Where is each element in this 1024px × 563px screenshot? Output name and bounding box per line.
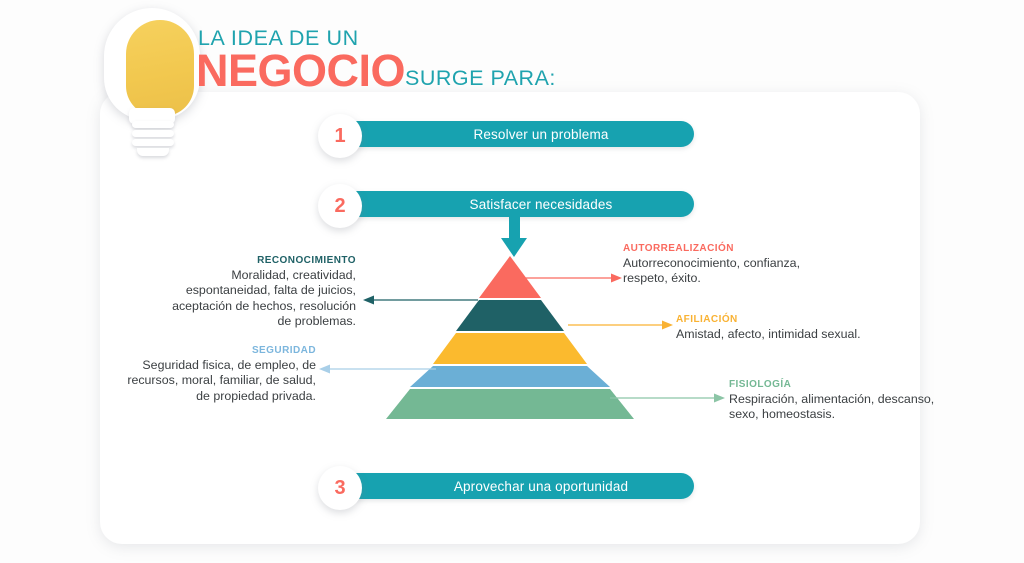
label-autorrealizacion: AUTORREALIZACIÓN Autorreconocimiento, co… (623, 243, 838, 287)
label-seguridad: SEGURIDAD Seguridad fisica, de empleo, d… (118, 345, 316, 404)
step-label-3: Aprovechar una oportunidad (420, 479, 628, 494)
title-emphasis: NEGOCIO (196, 48, 405, 93)
step-bar-3[interactable]: Aprovechar una oportunidad (354, 473, 694, 499)
label-title-reconocimiento: RECONOCIMIENTO (164, 255, 356, 266)
label-title-fisiologia: FISIOLOGÍA (729, 379, 944, 390)
connector-autorrealizacion (507, 272, 625, 284)
label-title-seguridad: SEGURIDAD (118, 345, 316, 356)
label-body-fisiologia: Respiración, alimentación, descanso, sex… (729, 392, 944, 423)
label-title-autorrealizacion: AUTORREALIZACIÓN (623, 243, 838, 254)
pyramid-tier-seguridad (410, 366, 610, 387)
label-body-afiliacion: Amistad, afecto, intimidad sexual. (676, 327, 876, 342)
bulb-glass (104, 8, 200, 120)
step-number-1: 1 (334, 125, 345, 148)
label-fisiologia: FISIOLOGÍA Respiración, alimentación, de… (729, 379, 944, 423)
page-title: LA IDEA DE UN NEGOCIO SURGE PARA: (196, 26, 756, 96)
step-label-1: Resolver un problema (439, 127, 608, 142)
bulb-core (126, 20, 194, 116)
down-arrow-icon (501, 210, 527, 258)
arrow-stem (509, 210, 520, 240)
bulb-ring (132, 130, 174, 137)
bulb-ring (132, 139, 174, 146)
pyramid-tier-fisiologia (386, 389, 634, 419)
title-suffix: SURGE PARA: (405, 66, 556, 91)
step-number-circle-3: 3 (318, 466, 362, 510)
step-bar-1[interactable]: Resolver un problema (354, 121, 694, 147)
label-body-reconocimiento: Moralidad, creatividad, espontaneidad, f… (164, 268, 356, 330)
step-number-3: 3 (334, 477, 345, 500)
title-line-2: NEGOCIO SURGE PARA: (196, 48, 556, 93)
step-number-circle-1: 1 (318, 114, 362, 158)
label-reconocimiento: RECONOCIMIENTO Moralidad, creatividad, e… (164, 255, 356, 330)
label-body-seguridad: Seguridad fisica, de empleo, de recursos… (118, 358, 316, 404)
bulb-ring (132, 121, 174, 128)
label-body-autorrealizacion: Autorreconocimiento, confianza, respeto,… (623, 256, 838, 287)
connector-fisiologia (610, 392, 728, 404)
step-number-2: 2 (334, 195, 345, 218)
infographic-canvas: LA IDEA DE UN NEGOCIO SURGE PARA: Resolv… (0, 0, 1024, 563)
step-number-circle-2: 2 (318, 184, 362, 228)
connector-reconocimiento (362, 294, 478, 306)
lightbulb-icon (96, 8, 208, 158)
label-title-afiliacion: AFILIACIÓN (676, 314, 876, 325)
label-afiliacion: AFILIACIÓN Amistad, afecto, intimidad se… (676, 314, 876, 342)
connector-afiliacion (568, 319, 676, 331)
bulb-base (137, 148, 169, 156)
connector-seguridad (318, 363, 436, 375)
arrow-head (501, 238, 527, 257)
pyramid-tier-afiliacion (433, 333, 587, 364)
